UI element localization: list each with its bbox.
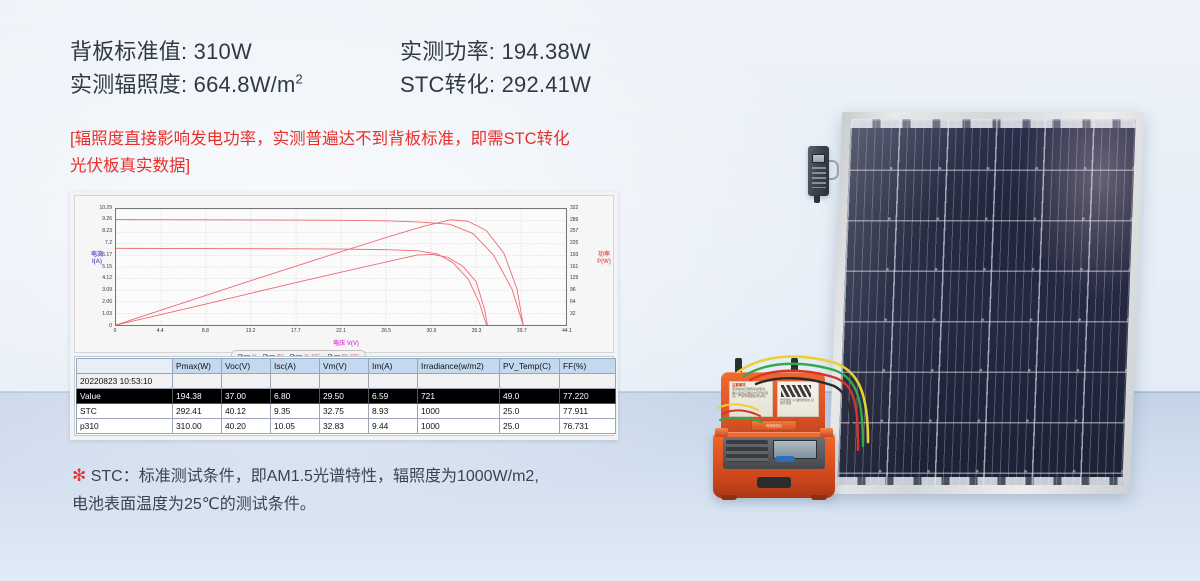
chart-y-tick-label: 9.26 (82, 217, 112, 222)
table-cell (560, 374, 616, 389)
table-body: 20220823 10:53:10Value194.3837.006.8029.… (77, 374, 616, 434)
meter-connector-cap (814, 195, 820, 203)
kpi-stc-converted-value: 292.41W (502, 72, 591, 97)
table-cell (500, 374, 560, 389)
table-cell: 32.83 (320, 419, 369, 434)
stc-footnote: ✻ STC：标准测试条件，即AM1.5光谱特性，辐照度为1000W/m2, 电池… (72, 462, 632, 519)
annotation-note-line-2: 光伏板真实数据] (70, 153, 630, 180)
table-cell: 9.44 (369, 419, 418, 434)
kpi-measured-irradiance: 实测辐照度: 664.8W/m2 (70, 67, 400, 99)
kpi-measured-power-label: 实测功率: (400, 39, 495, 64)
table-row-label: STC (77, 404, 173, 419)
kpi-measured-power-value: 194.38W (501, 39, 590, 64)
meter-keypad (812, 167, 826, 188)
table-cell: 49.0 (500, 389, 560, 404)
chart-x-tick-label: 13.2 (236, 329, 266, 334)
kpi-stc-converted-label: STC转化: (400, 72, 495, 97)
cables-svg (700, 350, 900, 500)
chart-x-tick-label: 26.5 (371, 329, 401, 334)
table-cell (271, 374, 320, 389)
table-cell (369, 374, 418, 389)
chart-series-pv (116, 254, 487, 325)
kpi-row: 背板标准值: 310W 实测功率: 194.38W (70, 34, 630, 67)
table-cell: 292.41 (173, 404, 222, 419)
table-cell: 10.05 (271, 419, 320, 434)
chart-svg (116, 209, 566, 325)
cable-black (756, 378, 852, 452)
table-column-header: FF(%) (560, 359, 616, 374)
table-cell: 1000 (418, 419, 500, 434)
chart-y-tick-label: 2.06 (82, 300, 112, 305)
table-cell: 9.35 (271, 404, 320, 419)
table-row[interactable]: STC292.4140.129.3532.758.93100025.077.91… (77, 404, 616, 419)
table-column-header (77, 359, 173, 374)
chart-x-tick-label: 4.4 (145, 329, 175, 334)
cable-red (750, 371, 858, 450)
table-column-header: PV_Temp(C) (500, 359, 560, 374)
table-cell: 8.93 (369, 404, 418, 419)
table-column-header: Im(A) (369, 359, 418, 374)
cable-yellow-short (718, 404, 758, 410)
chart-y-tick-label: 3.09 (82, 288, 112, 293)
table-timestamp-cell: 20220823 10:53:10 (77, 374, 173, 389)
chart-y2-tick-label: 322 (570, 206, 600, 211)
measurement-table-card: Pmax(W)Voc(V)Isc(A)Vm(V)Im(A)Irradiance(… (74, 356, 614, 436)
chart-x-axis-title: 电压 V(V) (301, 338, 391, 347)
kpi-measured-irradiance-value: 664.8W/m (194, 72, 296, 97)
cable-red-short (722, 410, 760, 416)
chart-y-tick-label: 1.03 (82, 312, 112, 317)
measurement-table: Pmax(W)Voc(V)Isc(A)Vm(V)Im(A)Irradiance(… (76, 358, 616, 434)
irradiance-meter (806, 146, 836, 204)
table-cell: 721 (418, 389, 500, 404)
kpi-backsheet-standard-label: 背板标准值: (70, 39, 187, 64)
table-cell: 6.80 (271, 389, 320, 404)
chart-y2-tick-label: 64 (570, 300, 600, 305)
chart-y2-tick-label: 96 (570, 288, 600, 293)
tester-software-screenshot: 电流 I(A) 功率 P(W) 电压 V(V) 01.032.063.094.1… (70, 192, 618, 440)
table-cell: 310.00 (173, 419, 222, 434)
panel-top-ribbon-strip (850, 119, 1135, 128)
chart-series-iv (116, 248, 486, 325)
chart-plot-area: 电流 I(A) 功率 P(W) 电压 V(V) 01.032.063.094.1… (115, 208, 567, 326)
kpi-row: 实测辐照度: 664.8W/m2 STC转化: 292.41W (70, 67, 630, 100)
chart-y2-tick-label: 289 (570, 218, 600, 223)
table-cell: 76.731 (560, 419, 616, 434)
kpi-irradiance-unit-exponent: 2 (296, 72, 303, 87)
table-cell: 40.20 (222, 419, 271, 434)
table-cell: 40.12 (222, 404, 271, 419)
table-row-timestamp: 20220823 10:53:10 (77, 374, 616, 389)
chart-y2-tick-label: 225 (570, 241, 600, 246)
table-cell (173, 374, 222, 389)
table-cell: 77.220 (560, 389, 616, 404)
table-cell: 1000 (418, 404, 500, 419)
chart-y-tick-label: 6.17 (82, 253, 112, 258)
table-cell: 25.0 (500, 404, 560, 419)
chart-y2-tick-label: 193 (570, 253, 600, 258)
table-cell (320, 374, 369, 389)
annotation-note: [辐照度直接影响发电功率，实测普遍达不到背板标准，即需STC转化 光伏板真实数据… (70, 126, 630, 180)
table-cell (222, 374, 271, 389)
chart-x-tick-label: 30.9 (416, 329, 446, 334)
table-column-header: Isc(A) (271, 359, 320, 374)
asterisk-icon: ✻ (72, 466, 86, 485)
chart-y-tick-label: 10.29 (82, 206, 112, 211)
test-cables (700, 350, 900, 500)
chart-y-tick-label: 5.15 (82, 265, 112, 270)
chart-y2-tick-label: 32 (570, 312, 600, 317)
chart-y2-tick-label: 257 (570, 229, 600, 234)
iv-pv-chart: 电流 I(A) 功率 P(W) 电压 V(V) 01.032.063.094.1… (74, 195, 614, 353)
slide-canvas: 背板标准值: 310W 实测功率: 194.38W 实测辐照度: 664.8W/… (0, 0, 1200, 581)
chart-y-tick-label: 0 (82, 324, 112, 329)
table-column-header: Voc(V) (222, 359, 271, 374)
chart-x-tick-label: 22.1 (326, 329, 356, 334)
chart-canvas (115, 208, 567, 326)
kpi-backsheet-standard-value: 310W (194, 39, 252, 64)
table-cell: 6.59 (369, 389, 418, 404)
meter-display-screen (812, 154, 825, 163)
table-column-header: Irradiance(w/m2) (418, 359, 500, 374)
chart-y-tick-label: 4.12 (82, 276, 112, 281)
kpi-stc-converted: STC转化: 292.41W (400, 67, 591, 99)
chart-x-tick-label: 17.7 (281, 329, 311, 334)
kpi-block: 背板标准值: 310W 实测功率: 194.38W 实测辐照度: 664.8W/… (70, 34, 630, 100)
table-row-label: p310 (77, 419, 173, 434)
table-column-header: Vm(V) (320, 359, 369, 374)
chart-x-tick-label: 8.8 (190, 329, 220, 334)
table-cell: 32.75 (320, 404, 369, 419)
chart-x-tick-label: 39.7 (507, 329, 537, 334)
table-cell (418, 374, 500, 389)
stc-footnote-line-2: 电池表面温度为25℃的测试条件。 (72, 491, 632, 519)
table-header-row: Pmax(W)Voc(V)Isc(A)Vm(V)Im(A)Irradiance(… (77, 359, 616, 374)
chart-x-tick-label: 35.3 (462, 329, 492, 334)
kpi-backsheet-standard: 背板标准值: 310W (70, 34, 400, 66)
table-column-header: Pmax(W) (173, 359, 222, 374)
kpi-measured-power: 实测功率: 194.38W (400, 34, 591, 66)
annotation-note-line-1: [辐照度直接影响发电功率，实测普遍达不到背板标准，即需STC转化 (70, 126, 630, 153)
chart-y2-tick-label: 161 (570, 265, 600, 270)
stc-footnote-text-1: STC：标准测试条件，即AM1.5光谱特性，辐照度为1000W/m2, (91, 468, 539, 485)
table-row[interactable]: p310310.0040.2010.0532.839.44100025.076.… (77, 419, 616, 434)
meter-body (808, 146, 829, 196)
stc-footnote-line-1: ✻ STC：标准测试条件，即AM1.5光谱特性，辐照度为1000W/m2, (72, 462, 632, 491)
table-cell: 25.0 (500, 419, 560, 434)
chart-y2-tick-label: 129 (570, 276, 600, 281)
table-cell: 37.00 (222, 389, 271, 404)
cable-green-short (720, 418, 762, 422)
chart-y-tick-label: 7.2 (82, 241, 112, 246)
kpi-measured-irradiance-label: 实测辐照度: (70, 72, 187, 97)
chart-y-tick-label: 8.23 (82, 229, 112, 234)
chart-x-tick-label: 0 (100, 329, 130, 334)
table-cell: 77.911 (560, 404, 616, 419)
table-cell: 29.50 (320, 389, 369, 404)
table-row-label: Value (77, 389, 173, 404)
chart-x-tick-label: 44.1 (552, 329, 582, 334)
table-cell: 194.38 (173, 389, 222, 404)
table-row[interactable]: Value194.3837.006.8029.506.5972149.077.2… (77, 389, 616, 404)
